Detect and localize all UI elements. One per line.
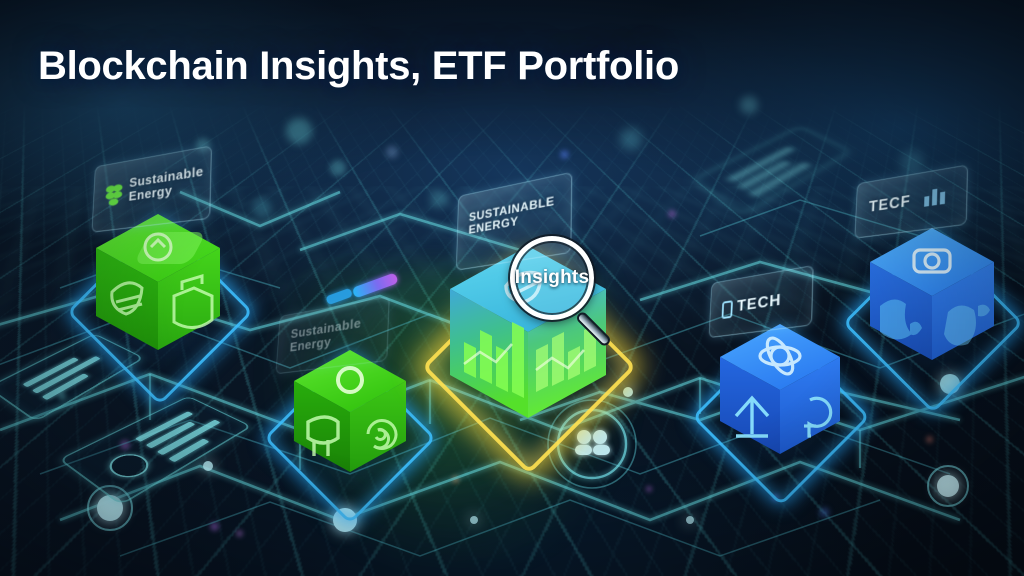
illustration-canvas: Sustainable Energy bbox=[0, 0, 1024, 576]
page-title: Blockchain Insights, ETF Portfolio bbox=[38, 44, 679, 89]
